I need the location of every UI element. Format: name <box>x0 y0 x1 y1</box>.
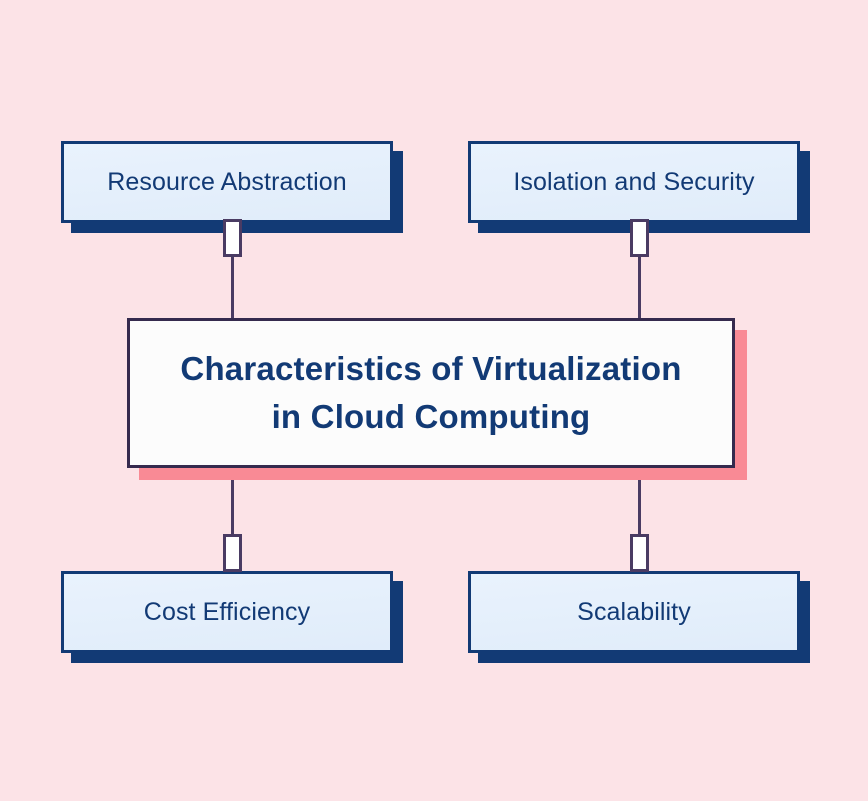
node-cost-efficiency[interactable]: Cost Efficiency <box>61 571 393 653</box>
node-label-cost-efficiency: Cost Efficiency <box>144 597 310 627</box>
connector-tab-isolation-and-security <box>630 219 649 257</box>
center-node-title-line-1: Characteristics of Virtualization <box>180 345 681 393</box>
connector-tab-cost-efficiency <box>223 534 242 572</box>
node-isolation-and-security[interactable]: Isolation and Security <box>468 141 800 223</box>
diagram-canvas: Resource Abstraction Isolation and Secur… <box>0 0 868 801</box>
node-resource-abstraction[interactable]: Resource Abstraction <box>61 141 393 223</box>
node-scalability[interactable]: Scalability <box>468 571 800 653</box>
center-node[interactable]: Characteristics of Virtualization in Clo… <box>127 318 735 468</box>
center-node-title-line-2: in Cloud Computing <box>180 393 681 441</box>
node-label-scalability: Scalability <box>577 597 691 627</box>
center-node-title: Characteristics of Virtualization in Clo… <box>180 345 681 441</box>
node-label-isolation-and-security: Isolation and Security <box>513 167 754 197</box>
node-label-resource-abstraction: Resource Abstraction <box>107 167 347 197</box>
connector-tab-scalability <box>630 534 649 572</box>
connector-tab-resource-abstraction <box>223 219 242 257</box>
